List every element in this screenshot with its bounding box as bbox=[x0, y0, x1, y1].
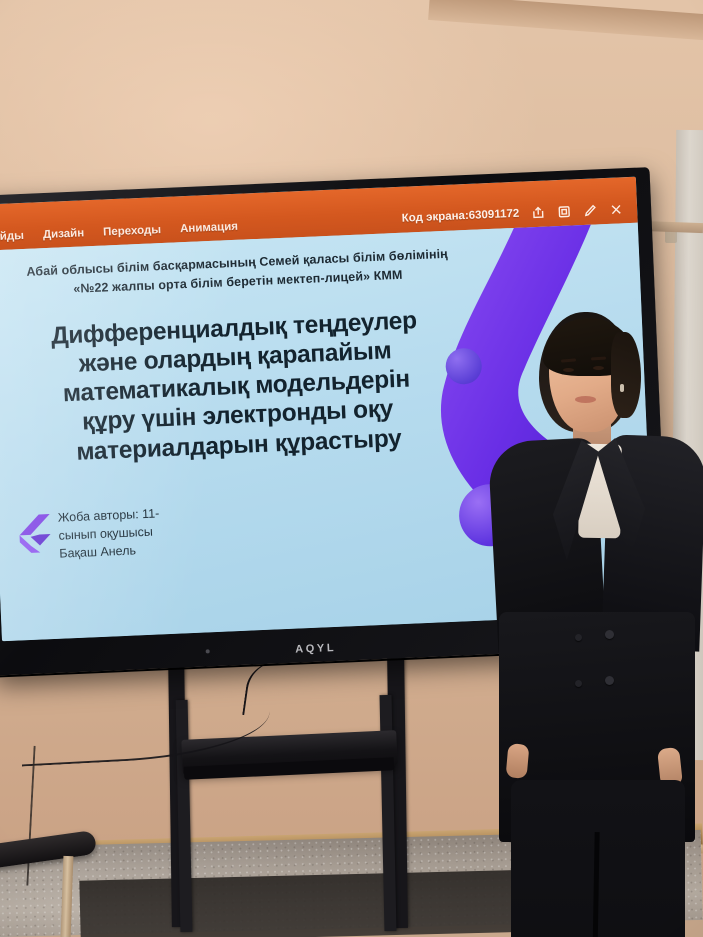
blazer-button-3 bbox=[575, 634, 582, 641]
presenter-earring bbox=[620, 384, 624, 392]
slide-title: Дифференциалдық теңдеулер және олардың қ… bbox=[2, 304, 470, 469]
presenter-lips bbox=[575, 396, 596, 403]
presenter-eye-right bbox=[593, 366, 604, 370]
close-icon[interactable] bbox=[608, 201, 624, 217]
screen-code-label: Код экрана:63091172 bbox=[401, 207, 519, 224]
presenter-eye-left bbox=[563, 368, 574, 372]
blazer-button-4 bbox=[575, 680, 582, 687]
presenter-hair-side bbox=[611, 332, 641, 418]
author-line-3: Бақаш Анель bbox=[59, 541, 161, 563]
menu-item-design[interactable]: Дизайн bbox=[43, 227, 85, 241]
floor-shadow-area bbox=[79, 869, 550, 937]
menu-item-slides[interactable]: Слайды bbox=[0, 230, 24, 244]
menu-item-transitions[interactable]: Переходы bbox=[103, 224, 162, 238]
toolbar-menu-group[interactable]: Слайды Дизайн Переходы Анимация bbox=[0, 221, 238, 244]
presenter-hand-left bbox=[506, 743, 530, 779]
blazer-button-1 bbox=[605, 630, 614, 639]
edit-pencil-icon[interactable] bbox=[582, 202, 598, 218]
toolbar-right-group[interactable]: Код экрана:63091172 bbox=[401, 201, 627, 226]
blazer-button-2 bbox=[605, 676, 614, 685]
project-logo-icon bbox=[17, 513, 53, 554]
screen-cast-icon[interactable] bbox=[556, 203, 572, 219]
share-icon[interactable] bbox=[530, 205, 546, 221]
author-text: Жоба авторы: 11- сынып оқушысы Бақаш Ане… bbox=[57, 505, 161, 563]
slide-organization-header: Абай облысы білім басқармасының Семей қа… bbox=[22, 245, 453, 302]
menu-item-animation[interactable]: Анимация bbox=[180, 221, 238, 235]
presenter-person bbox=[487, 312, 703, 937]
classroom-photo-scene: AQYL Слайды Дизайн Переходы Анимация Код… bbox=[0, 0, 703, 937]
slide-author-block: Жоба авторы: 11- сынып оқушысы Бақаш Ане… bbox=[17, 502, 249, 565]
